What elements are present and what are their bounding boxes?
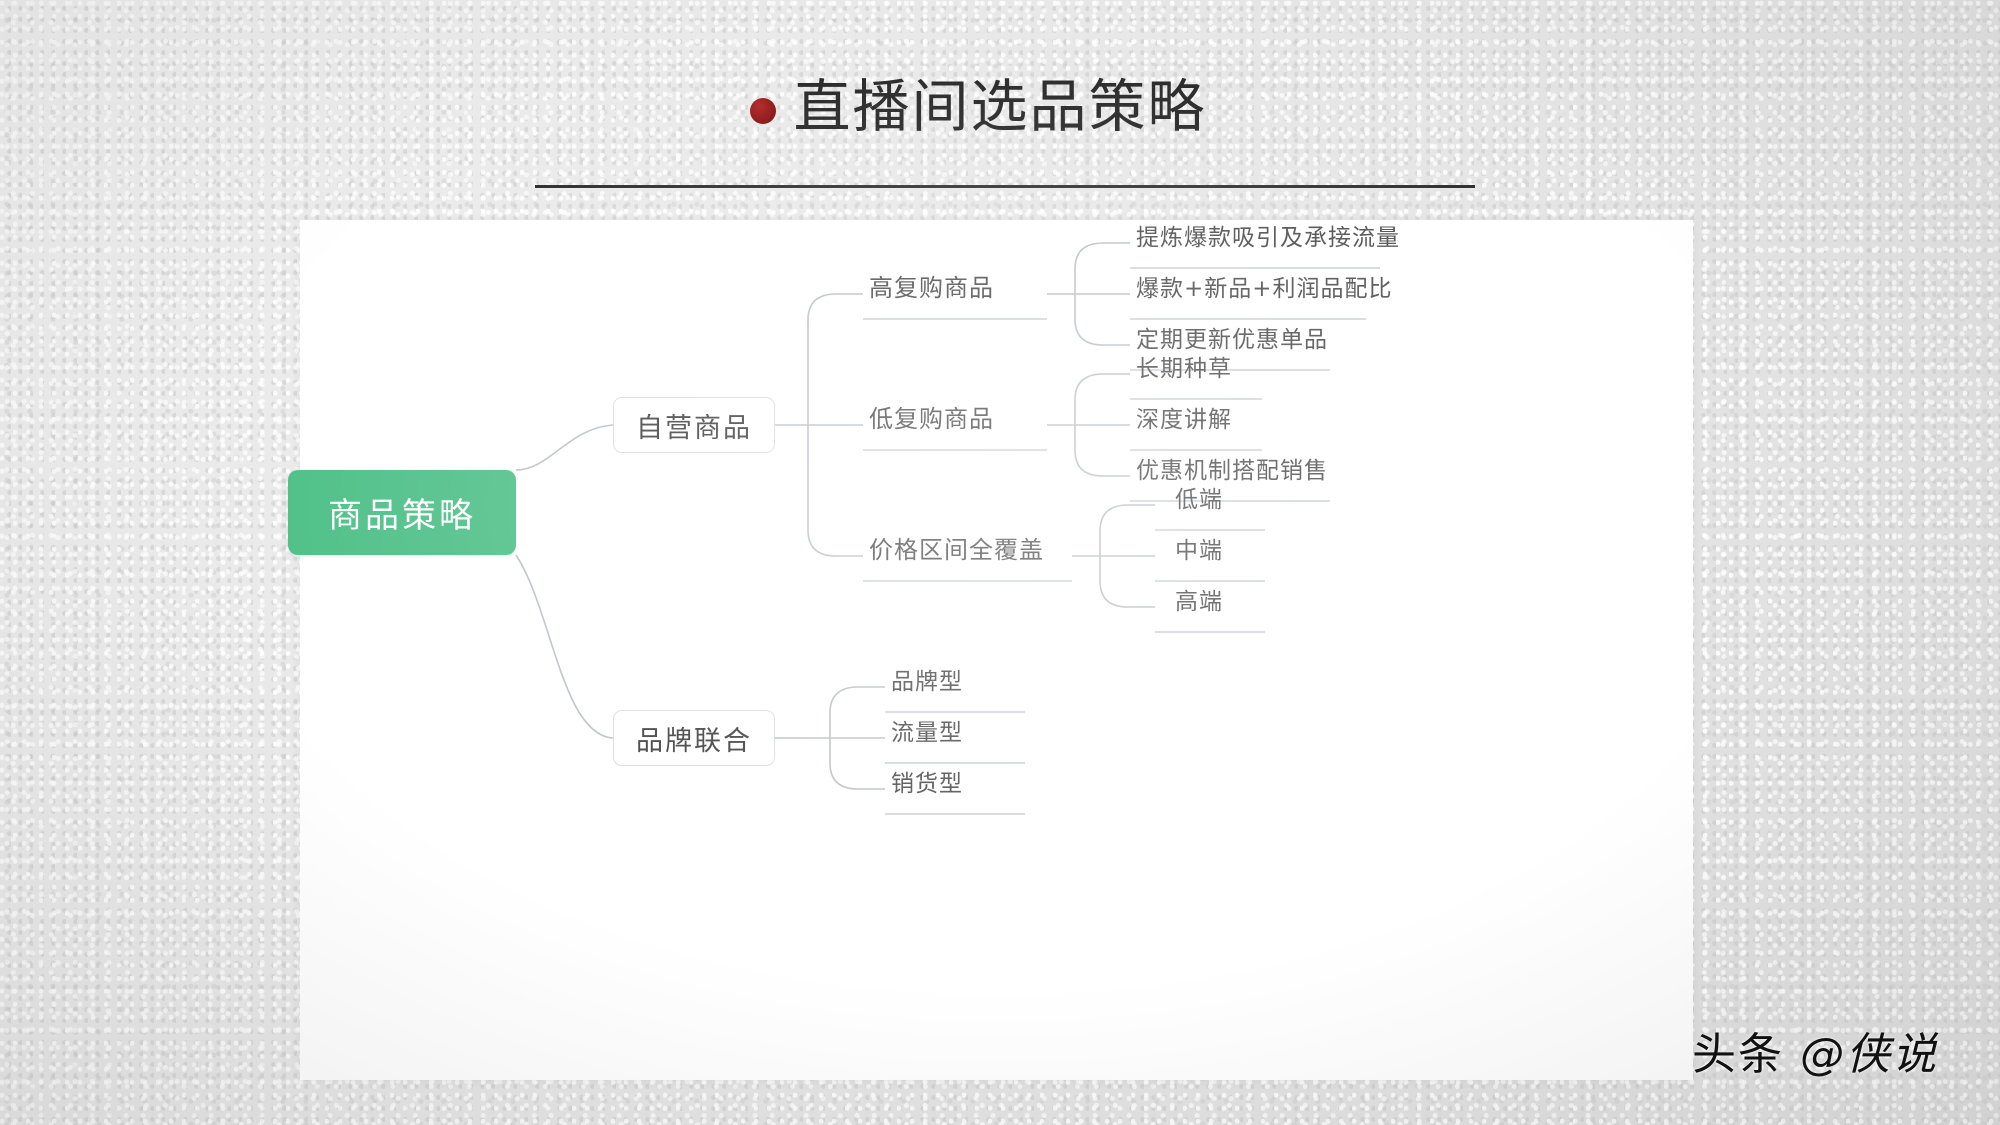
mindmap-node-self-operated[interactable]: 自营商品 [613,397,775,453]
mindmap-leaf-product-mix[interactable]: 爆款+新品+利润品配比 [1136,269,1393,310]
mindmap-root-node[interactable]: 商品策略 [288,470,516,555]
mindmap-leaf-sales-type[interactable]: 销货型 [891,764,963,805]
watermark: 头条 @侠说 [1692,1018,1938,1082]
page-title: 直播间选品策略 [0,78,2000,138]
mindmap-leaf-brand-type[interactable]: 品牌型 [891,662,963,703]
connector-root-to-brand-union [516,555,613,738]
mindmap-leaf-low-tier[interactable]: 低端 [1175,480,1223,521]
mindmap-connectors [300,220,1693,1080]
mindmap-node-high-repurchase[interactable]: 高复购商品 [869,268,994,310]
mindmap-node-brand-union[interactable]: 品牌联合 [613,710,775,766]
mindmap-leaf-extract-hot-items[interactable]: 提炼爆款吸引及承接流量 [1136,218,1400,259]
red-dot-icon [750,98,776,124]
title-text: 直播间选品策略 [794,78,1207,138]
mindmap-leaf-deep-explanation[interactable]: 深度讲解 [1136,400,1232,441]
watermark-handle: @侠说 [1800,1029,1938,1080]
title-divider [535,185,1475,188]
watermark-brand: 头条 [1692,1029,1784,1080]
mindmap-leaf-long-term-seeding[interactable]: 长期种草 [1136,349,1232,390]
mindmap-node-low-repurchase[interactable]: 低复购商品 [869,399,994,441]
connector-root-to-self-operated [516,425,613,470]
mindmap-card: 商品策略 自营商品 品牌联合 高复购商品 低复购商品 价格区间全覆盖 提炼爆款吸… [300,220,1693,1080]
mindmap-leaf-high-tier[interactable]: 高端 [1175,582,1223,623]
mindmap-leaf-traffic-type[interactable]: 流量型 [891,713,963,754]
mindmap-node-price-range[interactable]: 价格区间全覆盖 [869,530,1044,572]
mindmap-leaf-bundled-promo[interactable]: 优惠机制搭配销售 [1136,451,1328,492]
mindmap-leaf-mid-tier[interactable]: 中端 [1175,531,1223,572]
